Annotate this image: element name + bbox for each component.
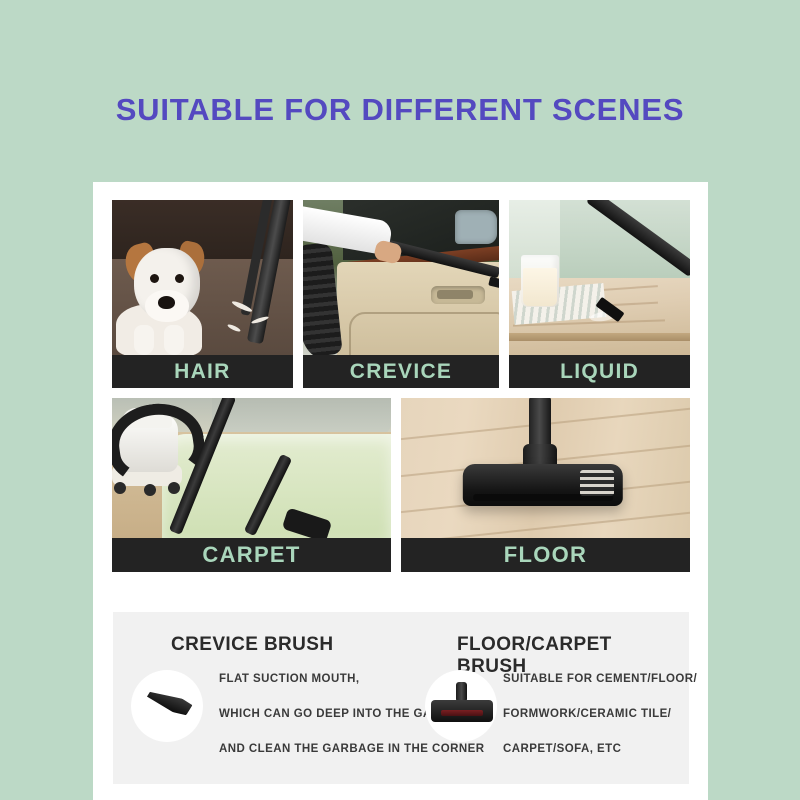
floor-carpet-brush-description: SUITABLE FOR CEMENT/FLOOR/ FORMWORK/CERA… — [503, 672, 689, 777]
floor-carpet-line-1: SUITABLE FOR CEMENT/FLOOR/ — [503, 672, 689, 687]
dog-eye-right — [175, 274, 184, 283]
floor-carpet-line-3: CARPET/SOFA, ETC — [503, 742, 689, 757]
product-infographic-page: SUITABLE FOR DIFFERENT SCENES — [0, 0, 800, 800]
floor-carpet-line-2: FORMWORK/CERAMIC TILE/ — [503, 707, 689, 722]
scene-tile-floor[interactable]: FLOOR — [401, 398, 690, 572]
milk-liquid — [523, 268, 557, 306]
liquid-photo — [509, 200, 690, 355]
floor-plank-seam — [401, 509, 690, 538]
scene-label-crevice: CREVICE — [303, 355, 499, 388]
bed-sheet — [212, 398, 391, 434]
floor-tool-neck-shape — [456, 682, 467, 702]
crevice-brush-description: FLAT SUCTION MOUTH, WHICH CAN GO DEEP IN… — [219, 672, 429, 777]
dog-couch-illustration — [112, 200, 293, 355]
floor-brush-vent — [580, 470, 614, 496]
scene-tile-carpet[interactable]: CARPET — [112, 398, 391, 572]
vacuum-wheel — [144, 484, 156, 496]
scene-tile-hair[interactable]: HAIR — [112, 200, 293, 388]
crevice-brush-block: CREVICE BRUSH FLAT SUCTION MOUTH, WHICH … — [131, 612, 421, 656]
vacuum-tube — [529, 398, 551, 450]
dog-eye-left — [150, 274, 159, 283]
scene-label-carpet: CARPET — [112, 538, 391, 572]
carpet-photo — [112, 398, 391, 538]
vacuum-wheel — [114, 482, 126, 494]
scene-label-hair: HAIR — [112, 355, 293, 388]
content-card: HAIR — [93, 182, 708, 800]
floor-photo — [401, 398, 690, 538]
crevice-line-2: WHICH CAN GO DEEP INTO THE GAP — [219, 707, 429, 722]
floor-carpet-brush-block: FLOOR/CARPET BRUSH SUITABLE FOR CEMENT/F… — [423, 612, 685, 678]
scene-grid: HAIR — [112, 200, 690, 572]
crevice-line-3: AND CLEAN THE GARBAGE IN THE CORNER — [219, 742, 429, 757]
scene-tile-crevice[interactable]: CREVICE — [303, 200, 499, 388]
floor-carpet-brush-icon — [425, 670, 497, 742]
crevice-brush-title: CREVICE BRUSH — [171, 634, 421, 656]
scene-tile-liquid[interactable]: LIQUID — [509, 200, 690, 388]
carpet-vacuum-illustration — [112, 398, 391, 538]
hair-photo — [112, 200, 293, 355]
scene-row-1: HAIR — [112, 200, 690, 388]
car-door-illustration — [303, 200, 499, 355]
dog-leg-left — [134, 325, 154, 355]
vacuum-wheel — [168, 482, 180, 494]
page-title: SUITABLE FOR DIFFERENT SCENES — [0, 92, 800, 128]
dog-leg-right — [164, 325, 184, 355]
floor-brush-illustration — [401, 398, 690, 538]
accessory-info-panel: CREVICE BRUSH FLAT SUCTION MOUTH, WHICH … — [113, 612, 689, 784]
dog-nose — [158, 296, 175, 309]
side-mirror — [455, 210, 497, 244]
crevice-brush-icon — [131, 670, 203, 742]
crevice-photo — [303, 200, 499, 355]
scene-label-liquid: LIQUID — [509, 355, 690, 388]
scene-label-floor: FLOOR — [401, 538, 690, 572]
table-edge — [509, 333, 690, 341]
scene-row-2: CARPET — [112, 398, 690, 572]
crevice-tool-shape — [144, 687, 193, 717]
door-handle-inner — [437, 290, 473, 299]
door-panel-seam — [349, 312, 499, 355]
crevice-line-1: FLAT SUCTION MOUTH, — [219, 672, 429, 687]
floor-tool-strip-shape — [441, 710, 483, 716]
milk-table-illustration — [509, 200, 690, 355]
